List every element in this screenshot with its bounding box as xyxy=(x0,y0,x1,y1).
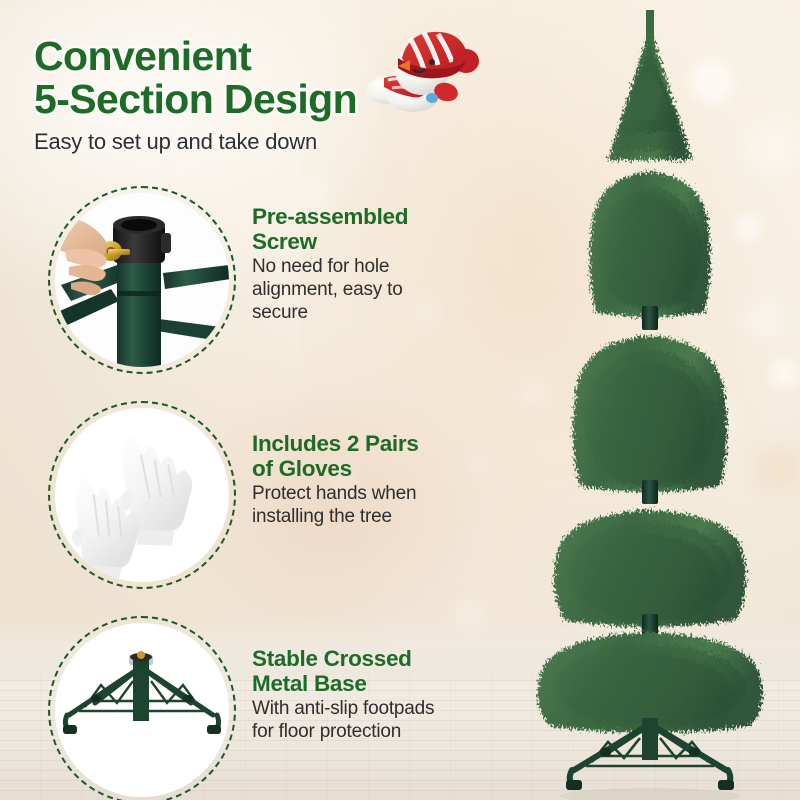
feature-description: No need for hole alignment, easy to secu… xyxy=(252,256,502,324)
headline-line-1: Convenient xyxy=(34,36,504,76)
feature-title-line-2: Screw xyxy=(252,229,317,254)
dashed-ring xyxy=(48,186,236,374)
feature-title-line-2: Metal Base xyxy=(252,671,367,696)
feature-title-line-1: Includes 2 Pairs xyxy=(252,431,419,456)
feature-title: Pre-assembled Screw xyxy=(252,204,502,254)
feature-title-line-1: Stable Crossed xyxy=(252,646,412,671)
section-connector-pole xyxy=(642,480,658,504)
feature-desc-line-2: for floor protection xyxy=(252,721,401,742)
feature-image-metal-base xyxy=(48,616,236,800)
promo-image: Convenient 5-Section Design Easy to set … xyxy=(0,0,800,800)
feature-desc-line-2: installing the tree xyxy=(252,506,392,527)
feature-desc-line-3: secure xyxy=(252,302,308,323)
tree-section-1 xyxy=(608,10,692,160)
feature-desc-line-1: No need for hole xyxy=(252,256,389,277)
tree-section-2 xyxy=(590,172,711,330)
feature-image-gloves xyxy=(48,401,236,589)
dashed-ring xyxy=(48,616,236,800)
feature-title-line-2: of Gloves xyxy=(252,456,352,481)
feature-description: Protect hands when installing the tree xyxy=(252,483,502,529)
feature-description: With anti-slip footpads for floor protec… xyxy=(252,698,502,744)
tree-section-3 xyxy=(573,336,727,504)
christmas-tree-product xyxy=(500,0,800,800)
headline-line-2: 5-Section Design xyxy=(34,79,504,119)
feature-text-metal-base: Stable Crossed Metal Base With anti-slip… xyxy=(252,616,502,744)
feature-desc-line-2: alignment, easy to xyxy=(252,279,403,300)
feature-title-line-1: Pre-assembled xyxy=(252,204,408,229)
tree-section-4 xyxy=(554,510,746,638)
feature-image-screw xyxy=(48,186,236,374)
feature-desc-line-1: With anti-slip footpads xyxy=(252,698,434,719)
feature-text-gloves: Includes 2 Pairs of Gloves Protect hands… xyxy=(252,401,502,529)
feature-text-screw: Pre-assembled Screw No need for hole ali… xyxy=(252,186,502,325)
headline-subtitle: Easy to set up and take down xyxy=(34,129,504,155)
feature-pre-assembled-screw: Pre-assembled Screw No need for hole ali… xyxy=(48,186,502,374)
feature-gloves: Includes 2 Pairs of Gloves Protect hands… xyxy=(48,401,502,589)
section-connector-pole xyxy=(642,306,658,330)
headline-block: Convenient 5-Section Design Easy to set … xyxy=(34,36,504,155)
feature-metal-base: Stable Crossed Metal Base With anti-slip… xyxy=(48,616,502,800)
dashed-ring xyxy=(48,401,236,589)
tree-stand xyxy=(560,718,740,800)
feature-title: Stable Crossed Metal Base xyxy=(252,646,502,696)
tree-section-5 xyxy=(538,632,763,733)
feature-desc-line-1: Protect hands when xyxy=(252,483,416,504)
feature-title: Includes 2 Pairs of Gloves xyxy=(252,431,502,481)
